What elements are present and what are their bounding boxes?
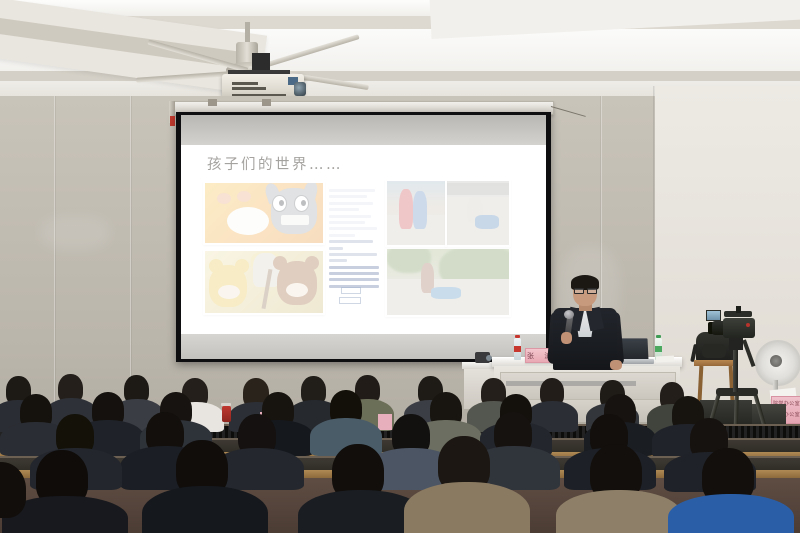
camcorder-body bbox=[723, 318, 755, 338]
travel-mug bbox=[222, 406, 231, 422]
wall-stain bbox=[40, 216, 110, 250]
pink-notebook bbox=[378, 414, 392, 430]
tripod-center-column bbox=[733, 348, 738, 392]
photo-child bbox=[399, 189, 413, 229]
water-bottle-label bbox=[655, 346, 662, 352]
slide-text-line bbox=[329, 215, 371, 218]
water-bottle-label bbox=[514, 346, 521, 352]
wall-seam bbox=[55, 96, 56, 436]
slide-text-line bbox=[329, 221, 365, 224]
pedestal-fan-hub bbox=[770, 355, 782, 367]
slide-text-line bbox=[329, 208, 359, 211]
slide-image-boonie-bears-cartoon bbox=[203, 249, 325, 315]
cartoon-wolf-pupil bbox=[279, 200, 284, 206]
slide-text-line bbox=[329, 202, 373, 205]
slide-photo-children-standing bbox=[385, 179, 447, 247]
audience-shoulders bbox=[404, 482, 530, 533]
backpack-front-pocket bbox=[702, 344, 726, 358]
camera-microphone bbox=[736, 306, 741, 313]
photo-railing bbox=[447, 183, 509, 195]
cartoon-bear-muzzle bbox=[218, 285, 240, 299]
travel-mug-lid bbox=[221, 403, 231, 406]
speaker-left-hand bbox=[561, 332, 572, 344]
cartoon-bear-yellow bbox=[209, 265, 247, 307]
slide-image-pleasant-goat-cartoon bbox=[203, 181, 325, 245]
photo-child bbox=[413, 191, 427, 229]
camera-lcd-screen bbox=[706, 310, 721, 321]
speaker-glasses bbox=[574, 288, 596, 292]
slide-photo-children-roadside bbox=[385, 247, 511, 317]
audience-shoulders bbox=[668, 494, 794, 533]
microphone-head bbox=[564, 310, 574, 319]
projected-slide-area: 孩子们的世界…… bbox=[181, 145, 546, 334]
tripod-head bbox=[729, 338, 743, 350]
slide-text-line bbox=[329, 189, 375, 192]
screen-bracket bbox=[262, 99, 271, 106]
slide-body-text-column bbox=[329, 189, 381, 291]
slide-text-line bbox=[329, 195, 367, 198]
screen-red-tab bbox=[170, 116, 175, 126]
desk-inset-panel bbox=[500, 372, 676, 400]
glasses-lens bbox=[574, 288, 584, 294]
screen-bracket bbox=[208, 99, 217, 106]
slide-text-line bbox=[329, 247, 343, 250]
slide-text-line bbox=[329, 234, 355, 237]
slide-text-line bbox=[329, 266, 379, 269]
slide-text-blank-box bbox=[339, 297, 361, 304]
audience-shoulders bbox=[142, 486, 268, 533]
cartoon-sheep-detail bbox=[237, 191, 251, 202]
screen-top-band bbox=[181, 115, 546, 145]
slide-text-line bbox=[329, 240, 373, 243]
presentation-slide: 孩子们的世界…… bbox=[181, 145, 546, 334]
audience-shoulders bbox=[556, 490, 682, 533]
projector-vent bbox=[232, 82, 258, 85]
cartoon-sheep bbox=[227, 207, 269, 235]
slide-photo-children-ground bbox=[445, 179, 511, 247]
slide-text-line bbox=[329, 272, 379, 275]
projector-lens bbox=[294, 82, 306, 96]
lecture-hall-photo: 孩子们的世界…… bbox=[0, 0, 800, 533]
photo-child bbox=[431, 287, 461, 299]
photo-child bbox=[475, 215, 499, 229]
slide-text-blank-box bbox=[341, 287, 361, 294]
camera-record-indicator bbox=[746, 323, 750, 327]
water-bottle-cap bbox=[656, 335, 661, 338]
slide-text-line bbox=[329, 259, 347, 262]
slide-title: 孩子们的世界…… bbox=[207, 153, 343, 174]
glasses-lens bbox=[587, 288, 597, 294]
slide-text-line bbox=[329, 253, 377, 256]
papers-on-desk bbox=[656, 356, 674, 363]
slide-text-line bbox=[329, 227, 377, 230]
cartoon-bear-brown bbox=[277, 261, 317, 305]
cartoon-wolf-snout bbox=[281, 215, 309, 225]
cartoon-bear-muzzle bbox=[286, 283, 308, 297]
cartoon-sheep-detail bbox=[217, 193, 231, 204]
slide-text-line bbox=[329, 278, 379, 281]
cartoon-wolf-pupil bbox=[301, 200, 306, 206]
speaker-right-hand bbox=[610, 360, 622, 370]
projector-vent bbox=[232, 87, 266, 90]
water-bottle-cap bbox=[515, 335, 520, 338]
